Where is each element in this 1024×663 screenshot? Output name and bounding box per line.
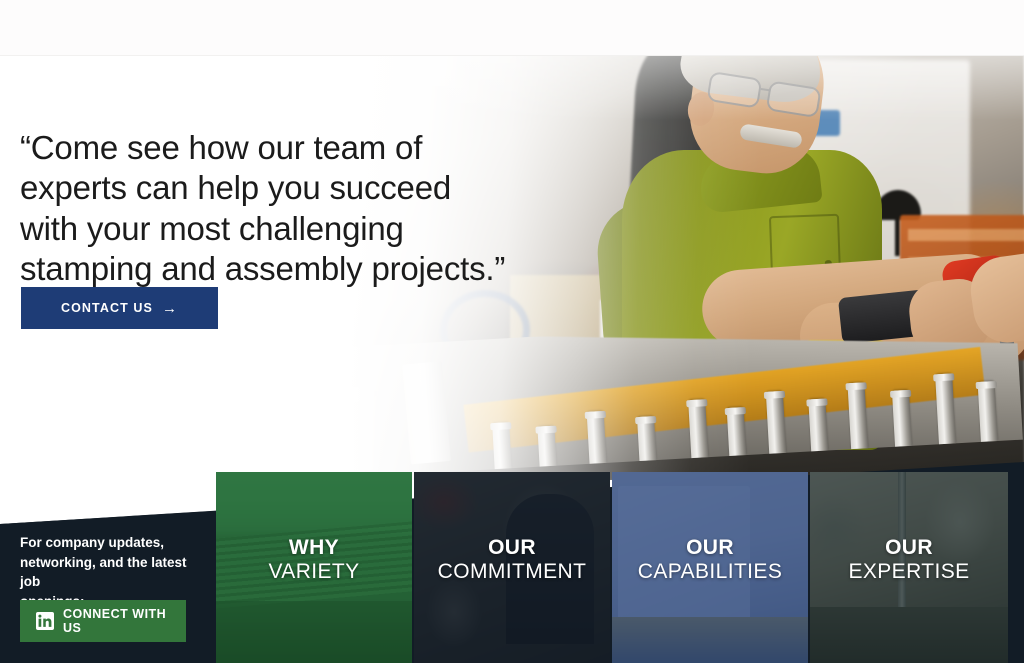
tile-label-our-expertise: OUR EXPERTISE [810, 536, 1008, 583]
contact-us-label: CONTACT US [61, 301, 153, 315]
tile-line2: CAPABILITIES [612, 560, 808, 584]
die-cylinder [313, 392, 379, 473]
tile-label-our-commitment: OUR COMMITMENT [414, 536, 610, 583]
page-root: “Come see how our team of experts can he… [0, 0, 1024, 663]
tile-our-expertise[interactable]: OUR EXPERTISE [810, 472, 1008, 663]
tile-our-commitment[interactable]: OUR COMMITMENT [414, 472, 610, 663]
tile-line1: WHY [216, 536, 412, 560]
tile-line2: COMMITMENT [414, 560, 610, 584]
tile-label-why-variety: WHY VARIETY [216, 536, 412, 583]
tile-line1: OUR [414, 536, 610, 560]
tile-line2: EXPERTISE [810, 560, 1008, 584]
tile-our-capabilities[interactable]: OUR CAPABILITIES [612, 472, 808, 663]
linkedin-icon [36, 612, 54, 630]
tile-line2: VARIETY [216, 560, 412, 584]
tile-label-our-capabilities: OUR CAPABILITIES [612, 536, 808, 583]
page-title: “Come see how our team of experts can he… [20, 128, 540, 289]
connect-with-us-button[interactable]: CONNECT WITH US [20, 600, 186, 642]
connect-with-us-label: CONNECT WITH US [63, 607, 186, 635]
tile-line1: OUR [612, 536, 808, 560]
arrow-right-icon: → [162, 301, 178, 316]
die-block [402, 361, 451, 464]
top-bar [0, 0, 1024, 56]
tile-line1: OUR [810, 536, 1008, 560]
tile-why-variety[interactable]: WHY VARIETY [216, 472, 412, 663]
contact-us-button[interactable]: CONTACT US → [21, 287, 218, 329]
